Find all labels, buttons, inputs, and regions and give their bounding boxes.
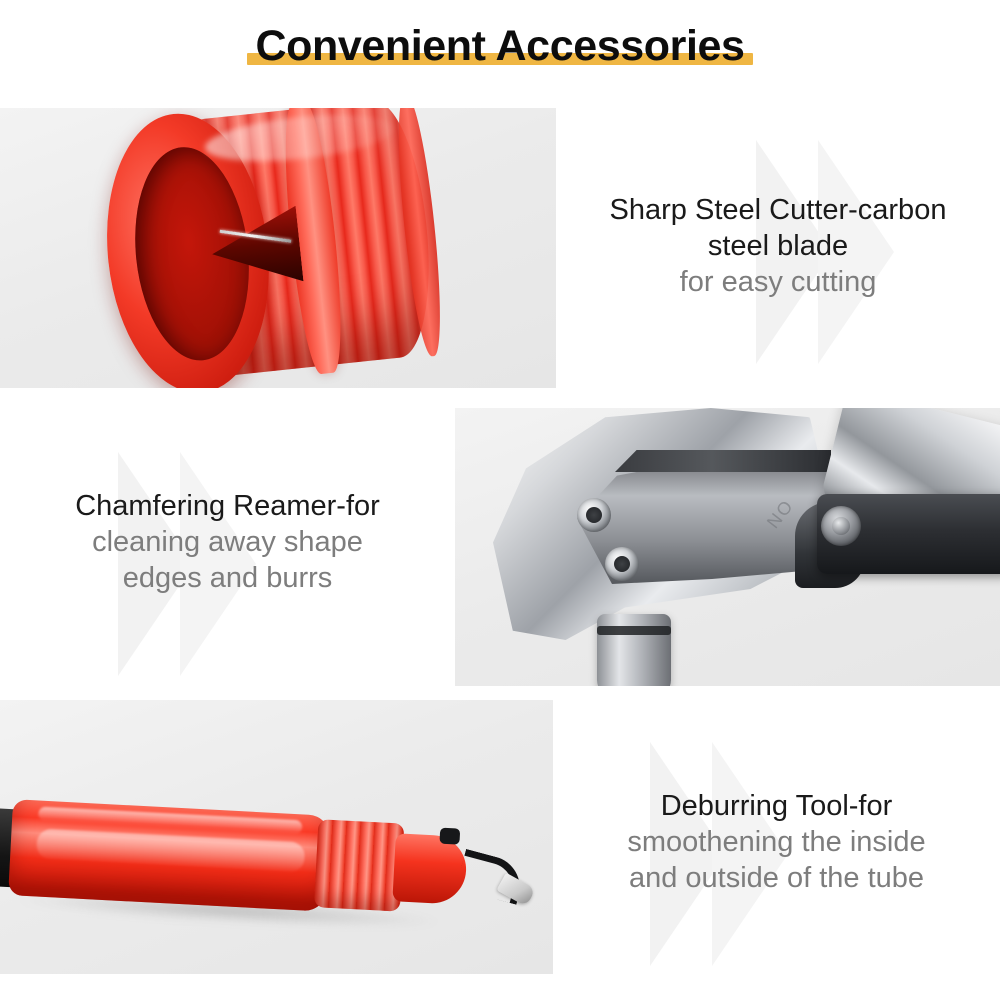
feature-caption-deburring-tool: Deburring Tool-for smoothening the insid… — [553, 789, 1000, 897]
tool-blade-tip — [496, 873, 535, 907]
cutter-screw-lower — [605, 547, 639, 581]
infographic-page: Convenient Accessories Sharp Steel Cutte… — [0, 0, 1000, 1000]
feature-subtext-line1: cleaning away shape — [0, 525, 455, 561]
feature-caption-sharp-steel-cutter: Sharp Steel Cutter-carbon steel blade fo… — [556, 193, 1000, 301]
tool-ribbed-grip — [314, 819, 404, 911]
feature-subtext-line1: smoothening the inside — [553, 825, 1000, 861]
cutter-jaw-edge — [615, 450, 831, 472]
deburring-tool-photo — [0, 781, 539, 950]
feature-subtext-line1: for easy cutting — [556, 265, 1000, 301]
page-title-wrapper: Convenient Accessories — [0, 24, 1000, 69]
feature-photo-sharp-steel-cutter — [0, 108, 556, 388]
page-title-inner: Convenient Accessories — [255, 24, 744, 69]
feature-photo-chamfering-reamer: NO — [455, 408, 1000, 686]
cutter-screw-upper — [577, 498, 611, 532]
feature-subtext-line2: and outside of the tube — [553, 861, 1000, 897]
feature-heading-line1: Deburring Tool-for — [553, 789, 1000, 825]
feature-heading-line1: Chamfering Reamer-for — [0, 489, 455, 525]
feature-photo-deburring-tool — [0, 700, 553, 974]
cutter-roller — [597, 614, 671, 686]
tool-nose-detail — [439, 828, 460, 845]
feature-heading-line1: Sharp Steel Cutter-carbon — [556, 193, 1000, 229]
cutter-wheel-bolt — [821, 506, 861, 546]
feature-subtext-line2: edges and burrs — [0, 561, 455, 597]
tube-cutter-photo: NO — [465, 408, 1000, 686]
feature-heading-line2: steel blade — [556, 229, 1000, 265]
page-title: Convenient Accessories — [255, 22, 744, 70]
chamfering-reamer-photo — [82, 108, 470, 388]
feature-caption-chamfering-reamer: Chamfering Reamer-for cleaning away shap… — [0, 489, 455, 597]
